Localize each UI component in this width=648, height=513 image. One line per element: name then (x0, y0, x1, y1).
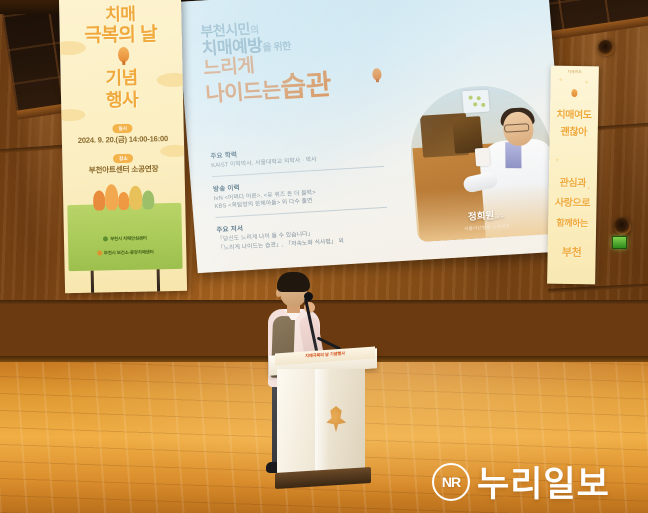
right-vertical-banner: 치매여도 치매여도 괜찮아 관심과 사랑으로 함께하는 부천 (547, 66, 599, 285)
banner-stand-leg (91, 271, 95, 294)
exit-sign-icon (612, 236, 627, 249)
podium: 치매극복의 날 기념행사 (269, 352, 377, 492)
projection-screen: 부천시민의 치매예방을 위한 느리게 나이드는습관 주요 학력 KAIST 이학… (176, 0, 570, 279)
place-label-pill: 장소 (113, 154, 134, 163)
slide-surface: 부천시민의 치매예방을 위한 느리게 나이드는습관 주요 학력 KAIST 이학… (176, 0, 569, 273)
right-banner-line-4: 사랑으로 (548, 194, 596, 210)
organizer-secondary: 부천시 보건소·중앙치매센터 (68, 249, 182, 257)
right-banner-line-6: 부천 (548, 244, 596, 261)
event-date: 2024. 9. 20.(금) 14:00-16:00 (62, 133, 184, 147)
speaker-cone-icon (614, 218, 631, 235)
hot-air-balloon-icon (118, 47, 129, 62)
watermark: NR 누리일보 (432, 456, 610, 507)
photo-screenshot: 부천시민의 치매예방을 위한 느리게 나이드는습관 주요 학력 KAIST 이학… (0, 0, 648, 513)
family-illustration (91, 181, 158, 212)
event-place: 부천아트센터 소공연장 (62, 163, 184, 177)
watermark-name: 누리일보 (477, 456, 610, 507)
banner-green-panel: 부천시 치매안심센터 부천시 보건소·중앙치매센터 (67, 203, 182, 271)
speaker-cone-icon (598, 40, 614, 56)
podium-highlight (315, 369, 329, 473)
date-label-pill: 일시 (112, 124, 133, 133)
ceiling-beam (0, 0, 60, 14)
banner-title-line4: 행사 (61, 85, 184, 114)
person-hair (277, 272, 310, 292)
organizer-primary: 부천시 치매안심센터 (68, 235, 182, 243)
right-banner-line-2: 괜찮아 (550, 123, 598, 139)
banner-stand-leg (157, 269, 161, 293)
right-banner-line-3: 관심과 (549, 174, 597, 190)
banner-title-line2: 극복의 날 (59, 19, 182, 49)
right-banner-line-5: 함께하는 (548, 216, 596, 230)
right-banner-line-1: 치매여도 (550, 106, 598, 122)
banner-top-note: 치매여도 (551, 70, 599, 76)
cloud-shape (160, 145, 187, 158)
wall-wave-5 (610, 0, 648, 300)
star-icon (555, 158, 559, 162)
star-icon (559, 78, 563, 82)
star-icon (585, 80, 589, 84)
hot-air-balloon-icon (571, 89, 577, 97)
left-standing-banner: 치매 극복의 날 기념 행사 일시 2024. 9. 20.(금) 14:00-… (59, 0, 187, 293)
nr-logo-icon: NR (432, 463, 470, 501)
screen-glare (176, 0, 569, 273)
